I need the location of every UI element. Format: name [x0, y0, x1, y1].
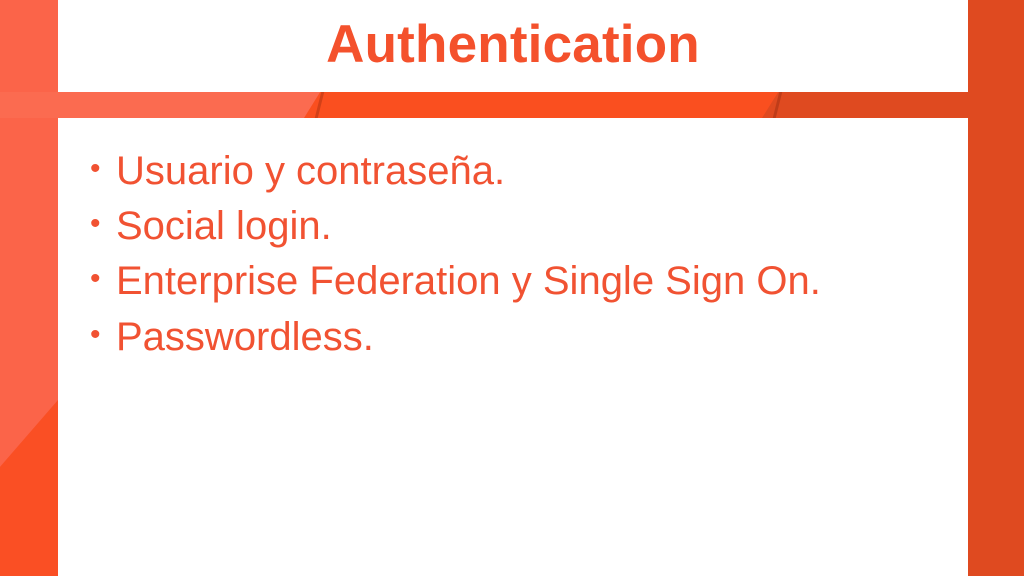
list-item: • Passwordless.	[90, 310, 948, 365]
list-item-label: Social login.	[116, 199, 332, 254]
title-card: Authentication	[58, 0, 968, 92]
content-card: • Usuario y contraseña. • Social login. …	[58, 118, 968, 576]
list-item: • Enterprise Federation y Single Sign On…	[90, 254, 948, 309]
presentation-slide: Authentication • Usuario y contraseña. •…	[0, 0, 1024, 576]
list-item-label: Enterprise Federation y Single Sign On.	[116, 254, 821, 309]
bullet-dot-icon: •	[90, 154, 116, 184]
bullet-dot-icon: •	[90, 264, 116, 294]
list-item-label: Passwordless.	[116, 310, 374, 365]
bullet-list: • Usuario y contraseña. • Social login. …	[58, 144, 968, 365]
divider-stripe-light-segment	[0, 92, 335, 118]
page-title: Authentication	[326, 18, 700, 75]
list-item: • Social login.	[90, 199, 948, 254]
list-item-label: Usuario y contraseña.	[116, 144, 505, 199]
right-accent-band	[968, 0, 1024, 576]
divider-stripe	[0, 92, 1024, 118]
bullet-dot-icon: •	[90, 320, 116, 350]
left-accent-band-upper	[0, 0, 58, 470]
list-item: • Usuario y contraseña.	[90, 144, 948, 199]
divider-stripe-dark-segment	[762, 92, 1024, 118]
bullet-dot-icon: •	[90, 209, 116, 239]
divider-stripe-mid-segment	[304, 92, 794, 118]
